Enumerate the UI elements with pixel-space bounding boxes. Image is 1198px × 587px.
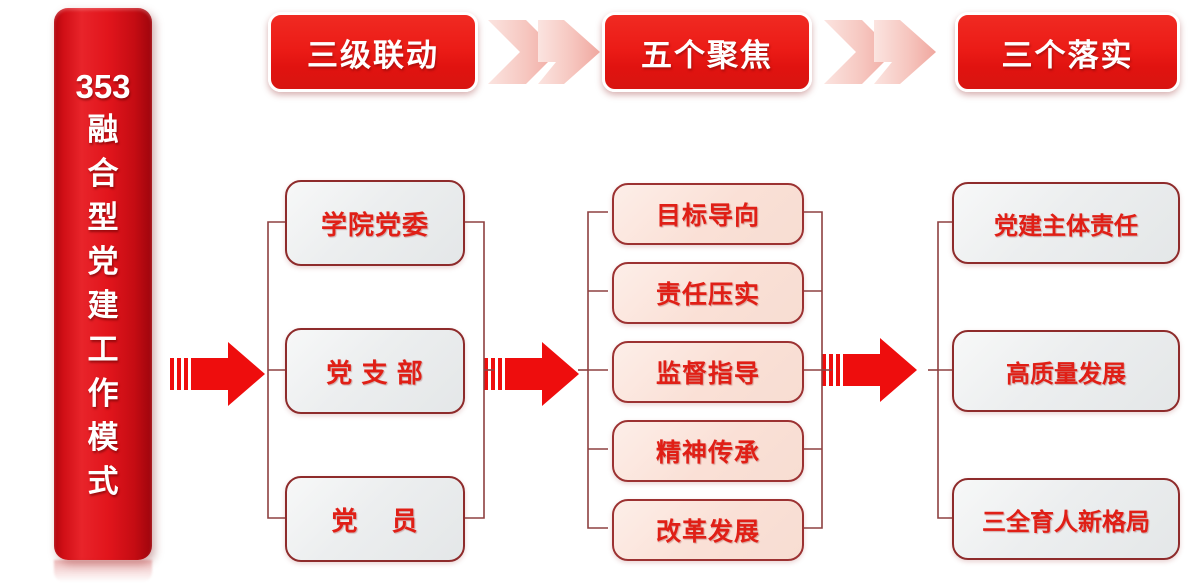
header-pill-three-implementations[interactable]: 三个落实 (955, 12, 1180, 92)
banner-text-stack: 353 融 合 型 党 建 工 作 模 式 (54, 8, 152, 560)
double-chevron-arrow-icon (486, 14, 604, 90)
banner-char: 作 (88, 372, 119, 416)
node-supervision-guidance[interactable]: 监督指导 (612, 341, 804, 403)
node-label: 精神传承 (656, 433, 760, 469)
node-label: 监督指导 (656, 354, 760, 390)
node-high-quality-development[interactable]: 高质量发展 (952, 330, 1180, 412)
banner-char: 建 (88, 284, 119, 328)
node-spirit-inheritance[interactable]: 精神传承 (612, 420, 804, 482)
header-pill-label: 三级联动 (307, 30, 439, 75)
node-party-branch[interactable]: 党 支 部 (285, 328, 465, 414)
node-label: 党 员 (332, 501, 419, 538)
banner-char: 式 (88, 460, 119, 504)
red-block-arrow-icon (168, 338, 268, 410)
bracket-left-column-2 (578, 180, 610, 560)
red-block-arrow-icon (820, 334, 920, 406)
node-party-building-main-responsibility[interactable]: 党建主体责任 (952, 182, 1180, 264)
banner-number: 353 (75, 68, 130, 106)
banner-char: 工 (88, 328, 119, 372)
main-title-banner: 353 融 合 型 党 建 工 作 模 式 (54, 8, 152, 560)
bracket-right-column-1 (462, 180, 494, 560)
node-goal-orientation[interactable]: 目标导向 (612, 183, 804, 245)
banner-char: 型 (88, 196, 119, 240)
node-label: 三全育人新格局 (982, 502, 1150, 537)
header-pill-three-level-linkage[interactable]: 三级联动 (268, 12, 478, 92)
node-college-party-committee[interactable]: 学院党委 (285, 180, 465, 266)
banner-char: 党 (88, 240, 119, 284)
node-label: 目标导向 (656, 196, 760, 232)
banner-vertical-characters: 融 合 型 党 建 工 作 模 式 (88, 108, 119, 504)
header-pill-label: 三个落实 (1002, 30, 1134, 75)
banner-char: 融 (88, 108, 119, 152)
node-label: 改革发展 (656, 512, 760, 548)
node-responsibility-implementation[interactable]: 责任压实 (612, 262, 804, 324)
banner-char: 合 (88, 152, 119, 196)
node-label: 学院党委 (321, 205, 429, 242)
node-label: 高质量发展 (1006, 354, 1126, 389)
double-chevron-arrow-icon (822, 14, 940, 90)
node-reform-development[interactable]: 改革发展 (612, 499, 804, 561)
banner-reflection (54, 560, 152, 582)
diagram-canvas: 353 融 合 型 党 建 工 作 模 式 三级联动 五个聚焦 三个落实 (0, 0, 1198, 587)
header-pill-label: 五个聚焦 (641, 30, 773, 75)
red-block-arrow-icon (482, 338, 582, 410)
banner-char: 模 (88, 416, 119, 460)
bracket-right-column-2 (800, 180, 832, 560)
node-three-wide-education-pattern[interactable]: 三全育人新格局 (952, 478, 1180, 560)
header-pill-five-focuses[interactable]: 五个聚焦 (602, 12, 812, 92)
node-party-member[interactable]: 党 员 (285, 476, 465, 562)
node-label: 党 支 部 (326, 353, 423, 390)
node-label: 责任压实 (656, 275, 760, 311)
node-label: 党建主体责任 (994, 206, 1138, 241)
